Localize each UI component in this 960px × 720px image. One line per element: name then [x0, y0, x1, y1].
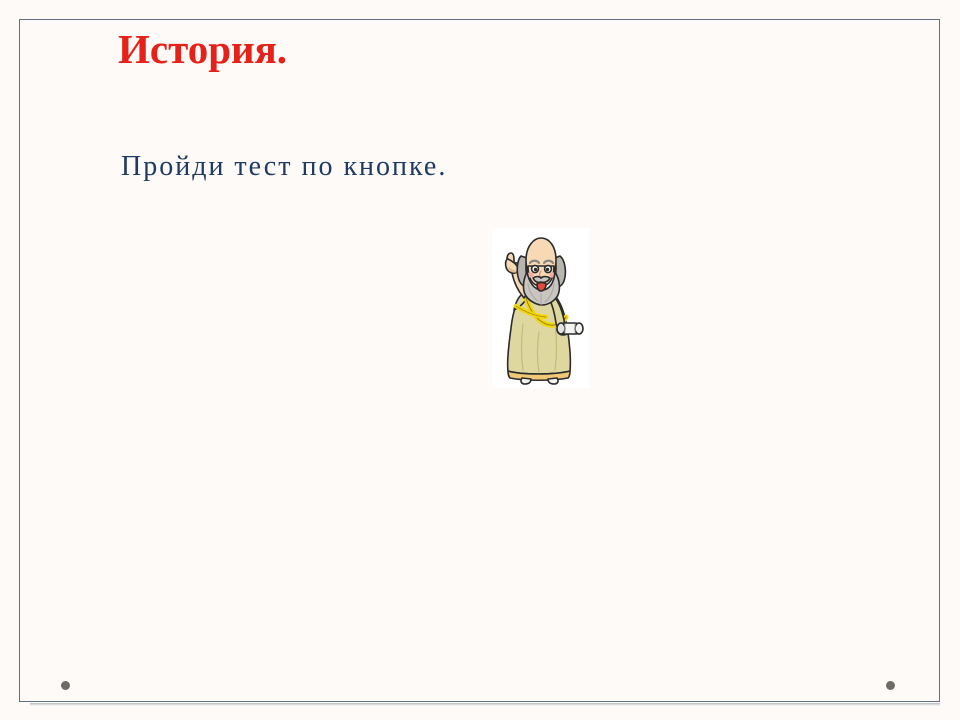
slide-frame-shadow [30, 703, 940, 706]
slide-canvas: История. Пройди тест по кнопке. [0, 0, 960, 720]
greek-philosopher-illustration [492, 228, 589, 388]
page-title: История. [118, 27, 287, 72]
bottom-left-dot [61, 681, 70, 690]
bottom-right-dot [886, 681, 895, 690]
philosopher-icon [492, 228, 589, 388]
instruction-text: Пройди тест по кнопке. [121, 151, 447, 183]
slide-border-frame [19, 19, 940, 702]
